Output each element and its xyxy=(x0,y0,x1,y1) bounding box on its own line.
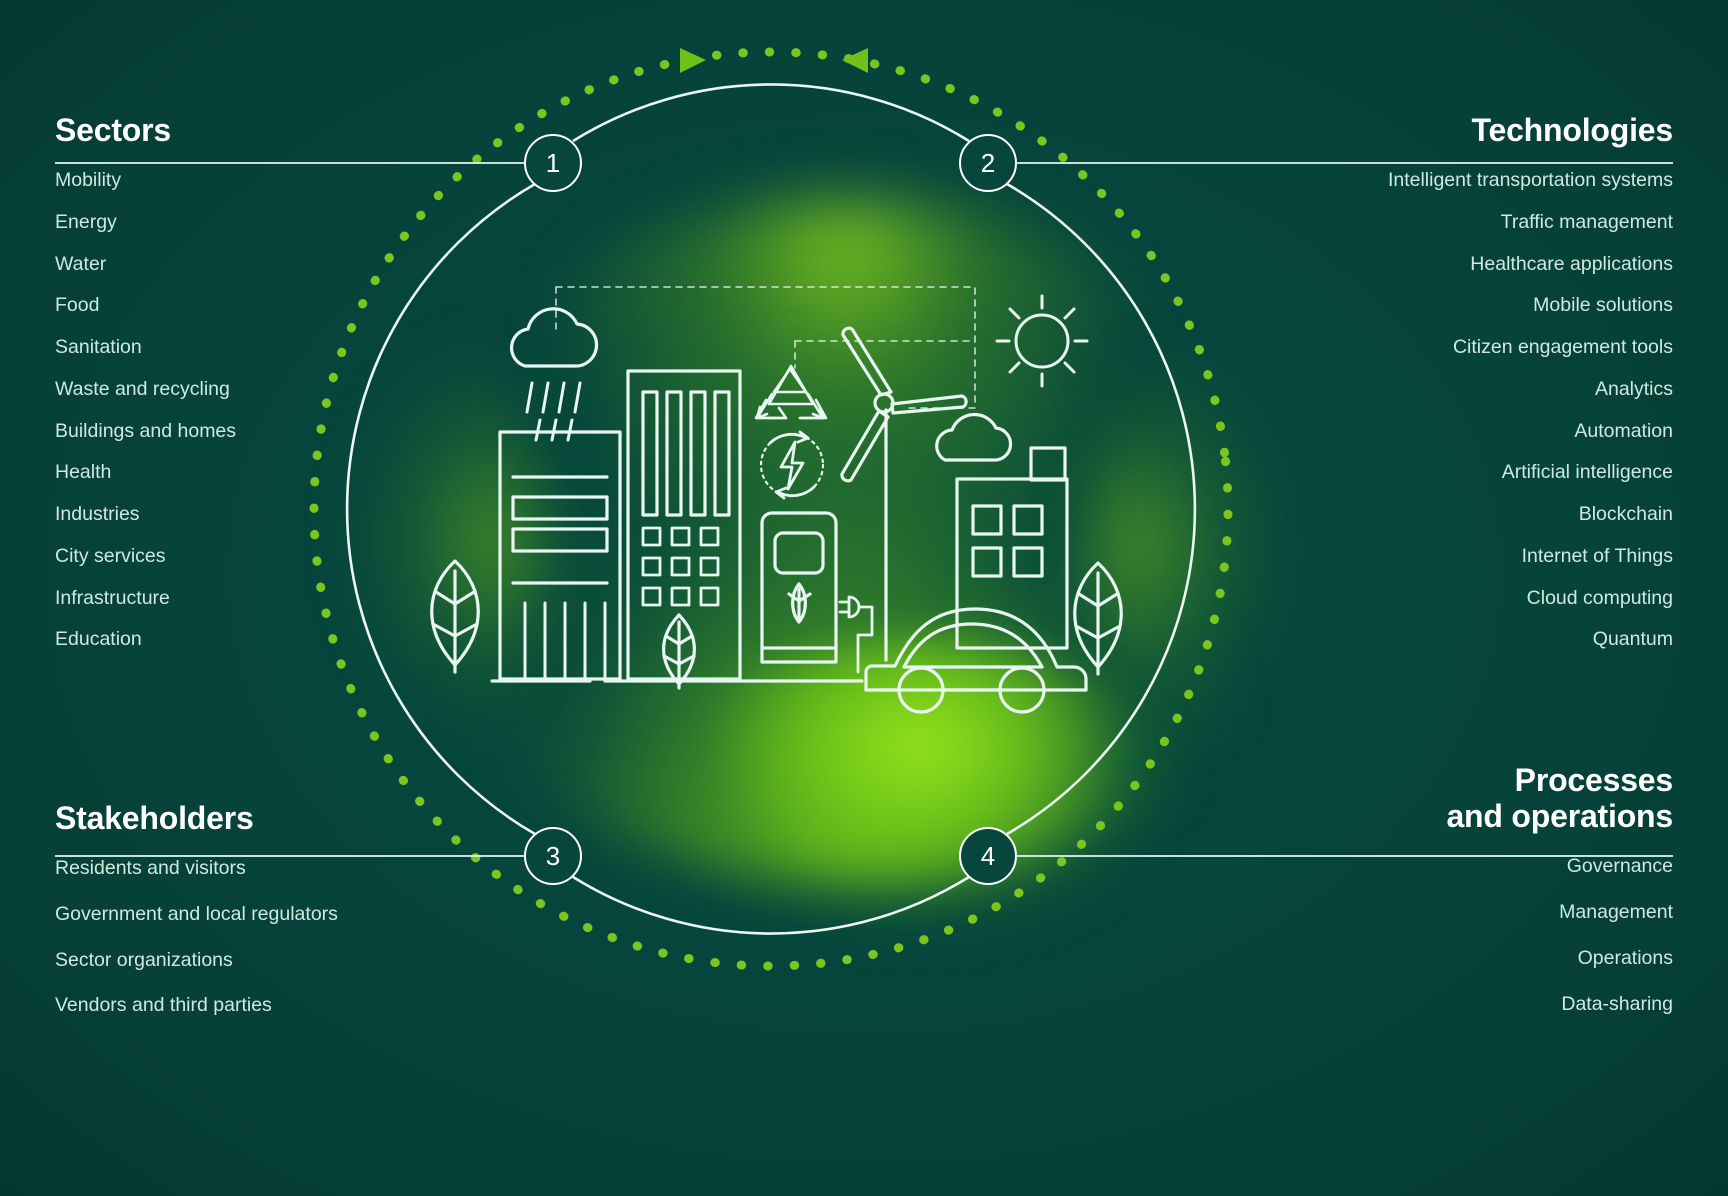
list-item: Healthcare applications xyxy=(1253,252,1673,278)
list-item: Energy xyxy=(55,210,475,236)
list-item: Industries xyxy=(55,502,475,528)
smart-city-illustration xyxy=(432,287,1122,712)
quadrant-processes: Processes and operations Governance Mana… xyxy=(1253,762,1673,1017)
node-number-1[interactable]: 1 xyxy=(524,134,582,192)
orbit-arrow-left xyxy=(842,48,868,73)
list-item: Infrastructure xyxy=(55,586,475,612)
electric-car-icon xyxy=(866,609,1086,712)
list-item: Residents and visitors xyxy=(55,856,515,882)
leaf-icon-small xyxy=(664,615,695,688)
list-item: Intelligent transportation systems xyxy=(1253,168,1673,194)
glow-arc-bottom xyxy=(660,640,1180,940)
list-item: Management xyxy=(1253,900,1673,926)
list-item: Cloud computing xyxy=(1253,586,1673,612)
list-item: Waste and recycling xyxy=(55,377,475,403)
office-building-icon xyxy=(500,432,620,679)
technologies-title: Technologies xyxy=(1253,112,1673,148)
energy-cycle-icon xyxy=(761,432,823,498)
quadrant-stakeholders: Stakeholders Residents and visitors Gove… xyxy=(55,800,515,1019)
list-item: Internet of Things xyxy=(1253,544,1673,570)
node-2-label: 2 xyxy=(981,148,995,179)
sectors-title: Sectors xyxy=(55,112,475,148)
processes-title: Processes and operations xyxy=(1253,762,1673,834)
list-item: Data-sharing xyxy=(1253,992,1673,1018)
list-item: Governance xyxy=(1253,854,1673,880)
node-3-label: 3 xyxy=(546,841,560,872)
infographic-canvas: 1 2 3 4 Sectors Mobility Energy Water Fo… xyxy=(0,0,1728,1196)
stakeholders-list: Residents and visitors Government and lo… xyxy=(55,856,515,1019)
list-item: Food xyxy=(55,293,475,319)
orbit-arrow-right xyxy=(680,48,706,73)
glow-arc-main xyxy=(404,240,1294,880)
list-item: Artificial intelligence xyxy=(1253,460,1673,486)
wind-turbine-icon xyxy=(842,328,966,660)
node-1-label: 1 xyxy=(546,148,560,179)
rain-cloud-icon xyxy=(512,309,597,440)
cloud-icon xyxy=(937,415,1011,461)
processes-list: Governance Management Operations Data-sh… xyxy=(1253,854,1673,1017)
dashed-network-lines xyxy=(556,287,975,408)
list-item: Education xyxy=(55,627,475,653)
ev-charging-station-icon xyxy=(762,513,872,672)
list-item: Vendors and third parties xyxy=(55,993,515,1019)
technologies-list: Intelligent transportation systems Traff… xyxy=(1253,168,1673,653)
node-number-3[interactable]: 3 xyxy=(524,827,582,885)
list-item: Operations xyxy=(1253,946,1673,972)
sectors-list: Mobility Energy Water Food Sanitation Wa… xyxy=(55,168,475,653)
list-item: Government and local regulators xyxy=(55,902,515,928)
list-item: Mobile solutions xyxy=(1253,293,1673,319)
quadrant-sectors: Sectors Mobility Energy Water Food Sanit… xyxy=(55,112,475,669)
node-number-4[interactable]: 4 xyxy=(959,827,1017,885)
list-item: Sanitation xyxy=(55,335,475,361)
list-item: Buildings and homes xyxy=(55,419,475,445)
apartment-building-icon xyxy=(957,448,1067,648)
node-4-label: 4 xyxy=(981,841,995,872)
sun-icon xyxy=(997,296,1087,386)
tower-building-icon xyxy=(628,371,740,679)
list-item: Health xyxy=(55,460,475,486)
list-item: Citizen engagement tools xyxy=(1253,335,1673,361)
recycle-icon xyxy=(757,369,823,418)
quadrant-technologies: Technologies Intelligent transportation … xyxy=(1253,112,1673,669)
list-item: Mobility xyxy=(55,168,475,194)
list-item: Water xyxy=(55,252,475,278)
list-item: City services xyxy=(55,544,475,570)
list-item: Analytics xyxy=(1253,377,1673,403)
node-number-2[interactable]: 2 xyxy=(959,134,1017,192)
list-item: Traffic management xyxy=(1253,210,1673,236)
leaf-icon-right xyxy=(1075,563,1122,674)
recycle-icon-outline xyxy=(756,366,826,418)
list-item: Sector organizations xyxy=(55,948,515,974)
stakeholders-title: Stakeholders xyxy=(55,800,515,836)
list-item: Blockchain xyxy=(1253,502,1673,528)
glow-arc-top xyxy=(460,200,1230,720)
list-item: Automation xyxy=(1253,419,1673,445)
list-item: Quantum xyxy=(1253,627,1673,653)
